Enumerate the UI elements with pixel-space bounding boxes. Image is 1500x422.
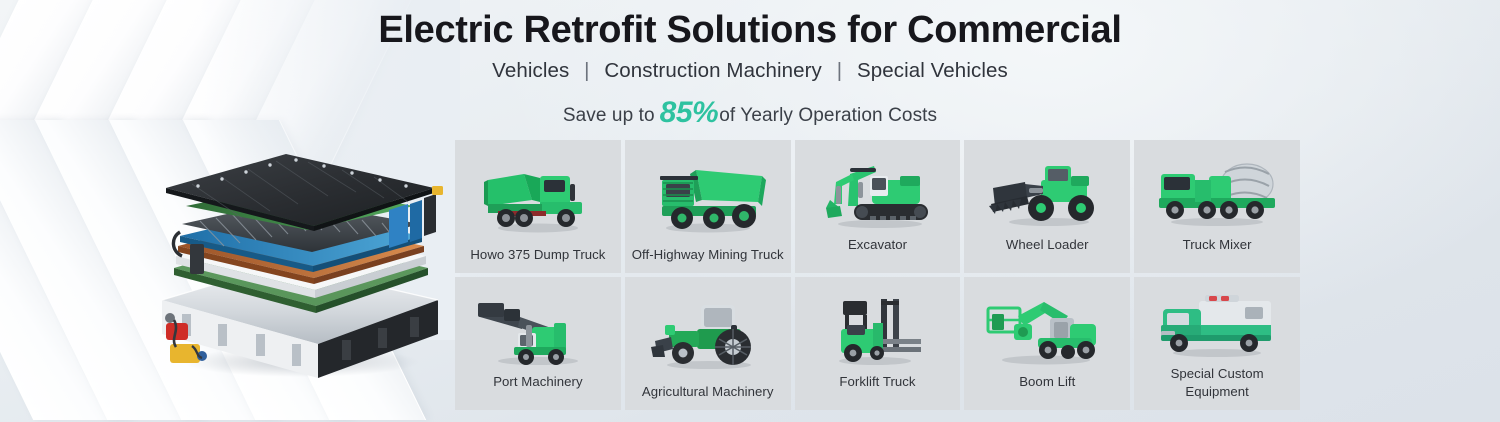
savings-prefix: Save up to: [563, 105, 655, 126]
product-card-dump-truck[interactable]: Howo 375 Dump Truck: [455, 140, 621, 273]
reach-stacker-icon: [461, 285, 615, 373]
savings-suffix: of Yearly Operation Costs: [719, 105, 937, 126]
product-label: Wheel Loader: [1006, 236, 1089, 264]
product-label: Howo 375 Dump Truck: [470, 246, 605, 264]
forklift-icon: [801, 285, 955, 373]
savings-line: Save up to85%of Yearly Operation Costs: [0, 96, 1500, 130]
promo-banner: Electric Retrofit Solutions for Commerci…: [0, 0, 1500, 422]
product-card-mining-truck[interactable]: Off-Highway Mining Truck: [625, 140, 791, 273]
truck-mixer-icon: [1140, 148, 1294, 236]
subtitle-separator: |: [575, 59, 598, 83]
product-card-port-machinery[interactable]: Port Machinery: [455, 277, 621, 410]
product-card-wheel-loader[interactable]: Wheel Loader: [964, 140, 1130, 273]
savings-percent: 85%: [655, 96, 720, 129]
product-card-excavator[interactable]: Excavator: [795, 140, 961, 273]
subtitle-separator: |: [828, 59, 851, 83]
product-label: Agricultural Machinery: [642, 383, 774, 401]
excavator-icon: [801, 148, 955, 236]
product-card-special-custom-equipment[interactable]: Special Custom Equipment: [1134, 277, 1300, 410]
wheel-loader-icon: [970, 148, 1124, 236]
product-label: Special Custom Equipment: [1140, 365, 1294, 401]
product-label: Boom Lift: [1019, 373, 1075, 401]
dump-truck-icon: [461, 148, 615, 246]
mining-truck-icon: [631, 148, 785, 246]
product-grid: Howo 375 Dump Truck: [455, 140, 1300, 410]
page-title: Electric Retrofit Solutions for Commerci…: [0, 2, 1500, 53]
product-label: Excavator: [848, 236, 907, 264]
boom-lift-icon: [970, 285, 1124, 373]
subtitle-item-special: Special Vehicles: [857, 59, 1008, 82]
ambulance-icon: [1140, 285, 1294, 365]
subtitle-item-vehicles: Vehicles: [492, 59, 569, 82]
chevron-shape: [0, 120, 130, 420]
product-label: Off-Highway Mining Truck: [632, 246, 784, 264]
product-label: Forklift Truck: [839, 373, 915, 401]
product-label: Truck Mixer: [1183, 236, 1252, 264]
product-card-truck-mixer[interactable]: Truck Mixer: [1134, 140, 1300, 273]
battery-pack-icon: [146, 148, 446, 380]
headline-block: Electric Retrofit Solutions for Commerci…: [0, 2, 1500, 130]
product-card-forklift-truck[interactable]: Forklift Truck: [795, 277, 961, 410]
ev-battery-pack-illustration: [146, 148, 446, 380]
product-label: Port Machinery: [493, 373, 582, 401]
product-card-agricultural-machinery[interactable]: Agricultural Machinery: [625, 277, 791, 410]
subtitle: Vehicles | Construction Machinery | Spec…: [0, 59, 1500, 83]
tractor-icon: [631, 285, 785, 383]
product-card-boom-lift[interactable]: Boom Lift: [964, 277, 1130, 410]
subtitle-item-construction: Construction Machinery: [604, 59, 822, 82]
